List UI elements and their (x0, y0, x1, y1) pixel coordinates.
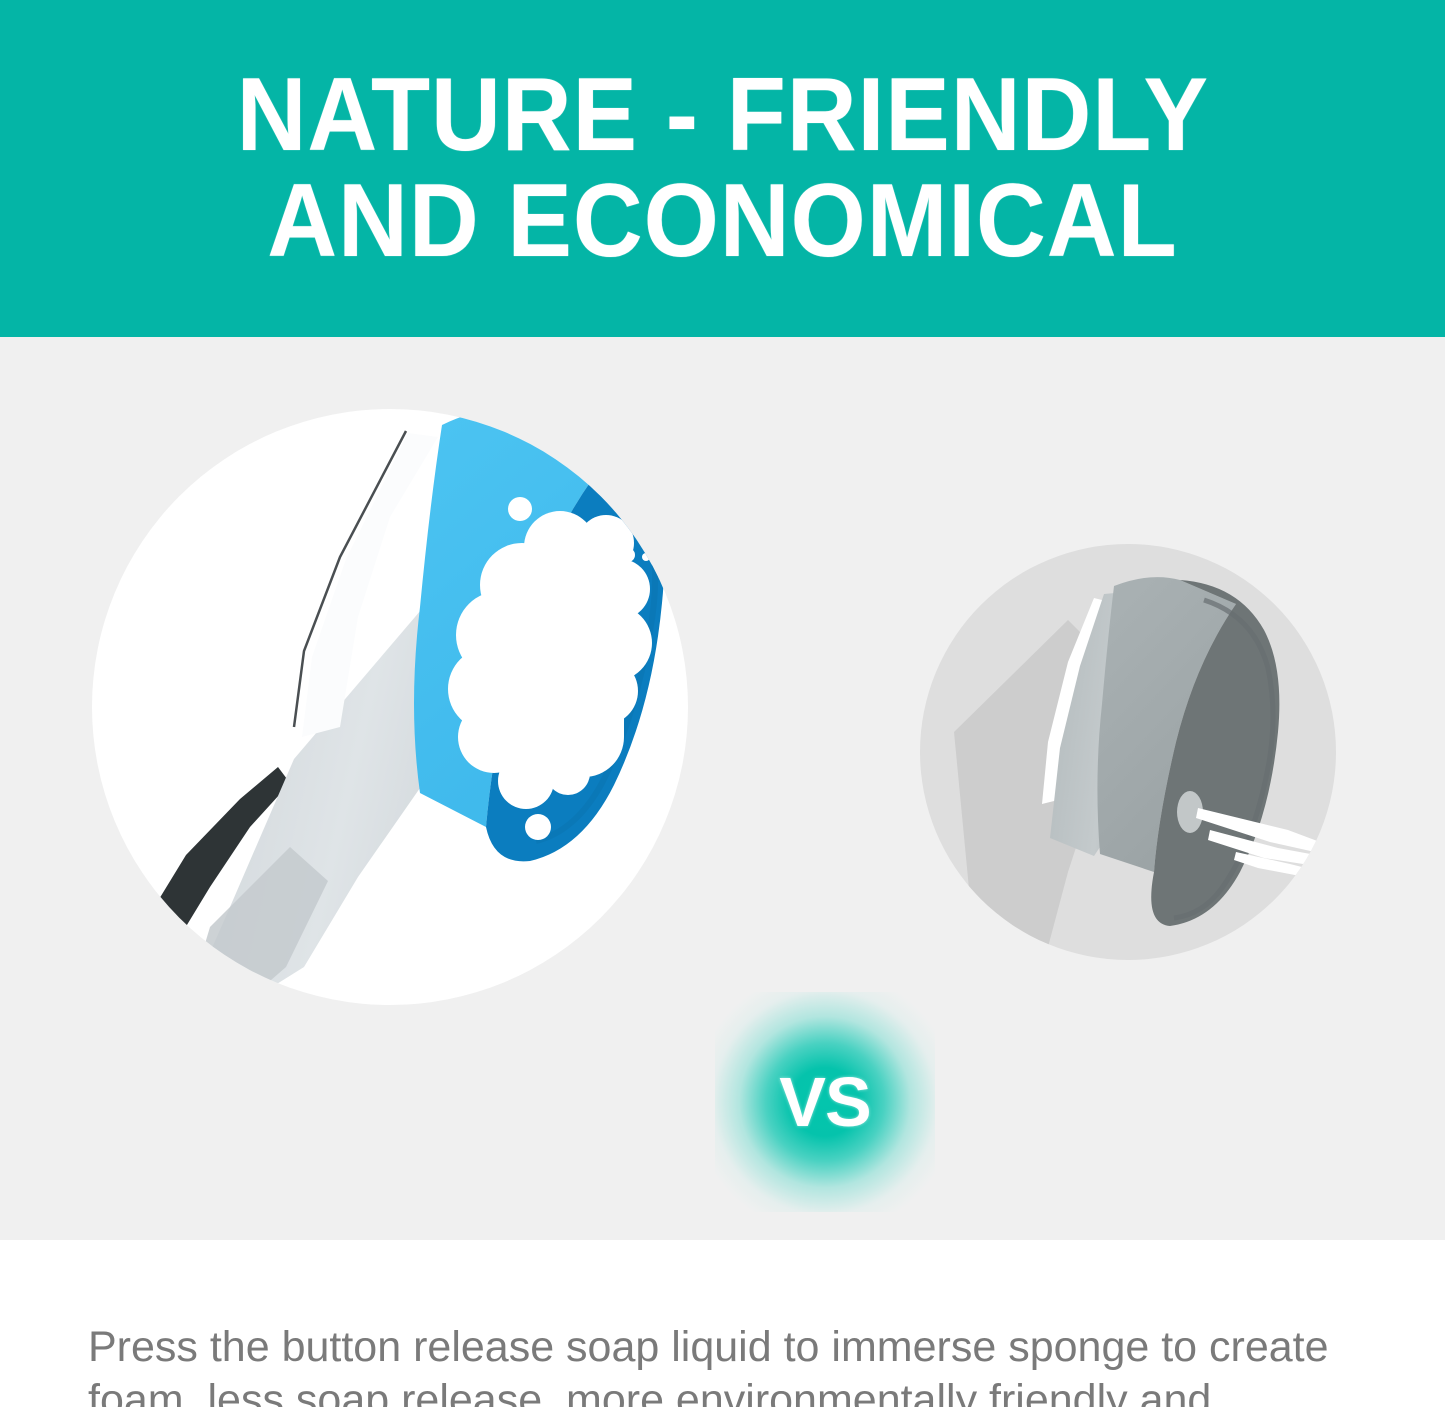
infographic-page: NATURE - FRIENDLY AND ECONOMICAL (0, 0, 1445, 1407)
blue-sponge-brush-illustration (90, 407, 690, 1007)
headline-line-2: AND ECONOMICAL (267, 171, 1177, 273)
vs-badge: VS (715, 992, 935, 1212)
vs-label: VS (779, 1067, 870, 1137)
handle-dark-tip (116, 935, 168, 999)
footer-description-text: Press the button release soap liquid to … (88, 1321, 1373, 1407)
bad-illustration (918, 542, 1338, 962)
gray-sponge-brush-illustration (918, 542, 1338, 962)
footer-description-area: Press the button release soap liquid to … (0, 1240, 1445, 1407)
good-illustration (90, 407, 690, 1007)
headline-line-1: NATURE - FRIENDLY (236, 65, 1208, 167)
comparison-panel: VS (0, 337, 1445, 1240)
header-banner: NATURE - FRIENDLY AND ECONOMICAL (0, 0, 1445, 337)
